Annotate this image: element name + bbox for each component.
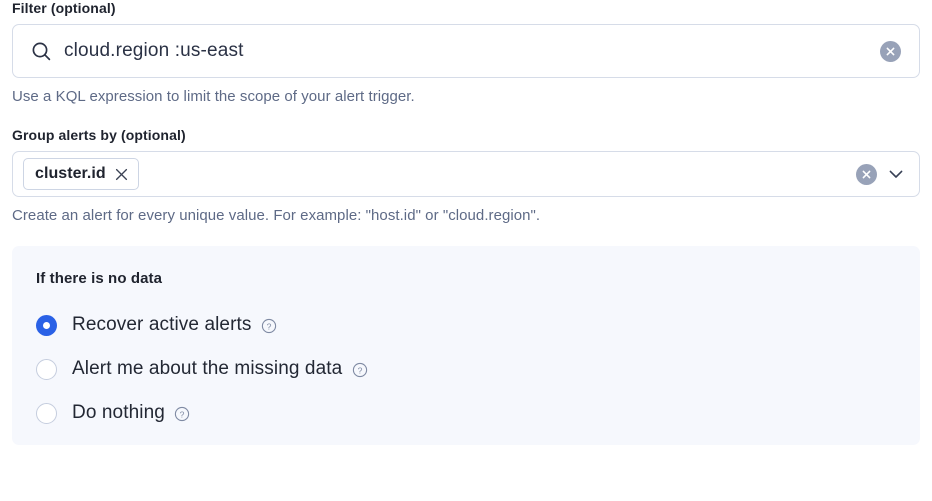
no-data-panel: If there is no data Recover active alert… — [12, 246, 920, 445]
radio-option-alert-missing-data[interactable]: Alert me about the missing data ? — [36, 351, 920, 387]
group-by-label: Group alerts by (optional) — [12, 127, 920, 143]
radio-label: Alert me about the missing data — [72, 357, 342, 381]
question-circle-icon[interactable]: ? — [261, 318, 278, 335]
radio-label: Do nothing — [72, 401, 165, 425]
filter-clear-button[interactable] — [880, 41, 901, 62]
radio-option-recover-active-alerts[interactable]: Recover active alerts ? — [36, 307, 920, 343]
filter-input-value: cloud.region :us-east — [64, 39, 880, 63]
radio-button[interactable] — [36, 315, 57, 336]
search-icon — [30, 40, 52, 62]
group-by-pill-label: cluster.id — [35, 165, 106, 183]
spacer — [0, 107, 932, 127]
close-icon[interactable] — [115, 167, 129, 181]
group-by-selected-pills: cluster.id — [23, 158, 856, 190]
svg-text:?: ? — [267, 321, 272, 331]
question-circle-icon[interactable]: ? — [174, 406, 191, 423]
filter-input[interactable]: cloud.region :us-east — [12, 24, 920, 78]
group-by-help-text: Create an alert for every unique value. … — [12, 206, 920, 226]
filter-help-text: Use a KQL expression to limit the scope … — [12, 87, 920, 107]
chevron-down-icon[interactable] — [885, 163, 907, 185]
radio-label: Recover active alerts — [72, 313, 252, 337]
svg-text:?: ? — [357, 365, 362, 375]
group-by-clear-button[interactable] — [856, 164, 877, 185]
filter-label: Filter (optional) — [12, 0, 920, 16]
radio-button[interactable] — [36, 359, 57, 380]
radio-option-do-nothing[interactable]: Do nothing ? — [36, 395, 920, 431]
radio-button[interactable] — [36, 403, 57, 424]
group-by-pill[interactable]: cluster.id — [23, 158, 139, 190]
filter-field-block: Filter (optional) cloud.region :us-east … — [0, 0, 932, 107]
group-by-field-block: Group alerts by (optional) cluster.id — [0, 127, 932, 226]
question-circle-icon[interactable]: ? — [351, 362, 368, 379]
group-by-actions — [856, 163, 907, 185]
svg-text:?: ? — [180, 409, 185, 419]
alert-conditions-form: Filter (optional) cloud.region :us-east … — [0, 0, 932, 501]
group-by-combobox[interactable]: cluster.id — [12, 151, 920, 197]
no-data-panel-title: If there is no data — [36, 270, 920, 288]
